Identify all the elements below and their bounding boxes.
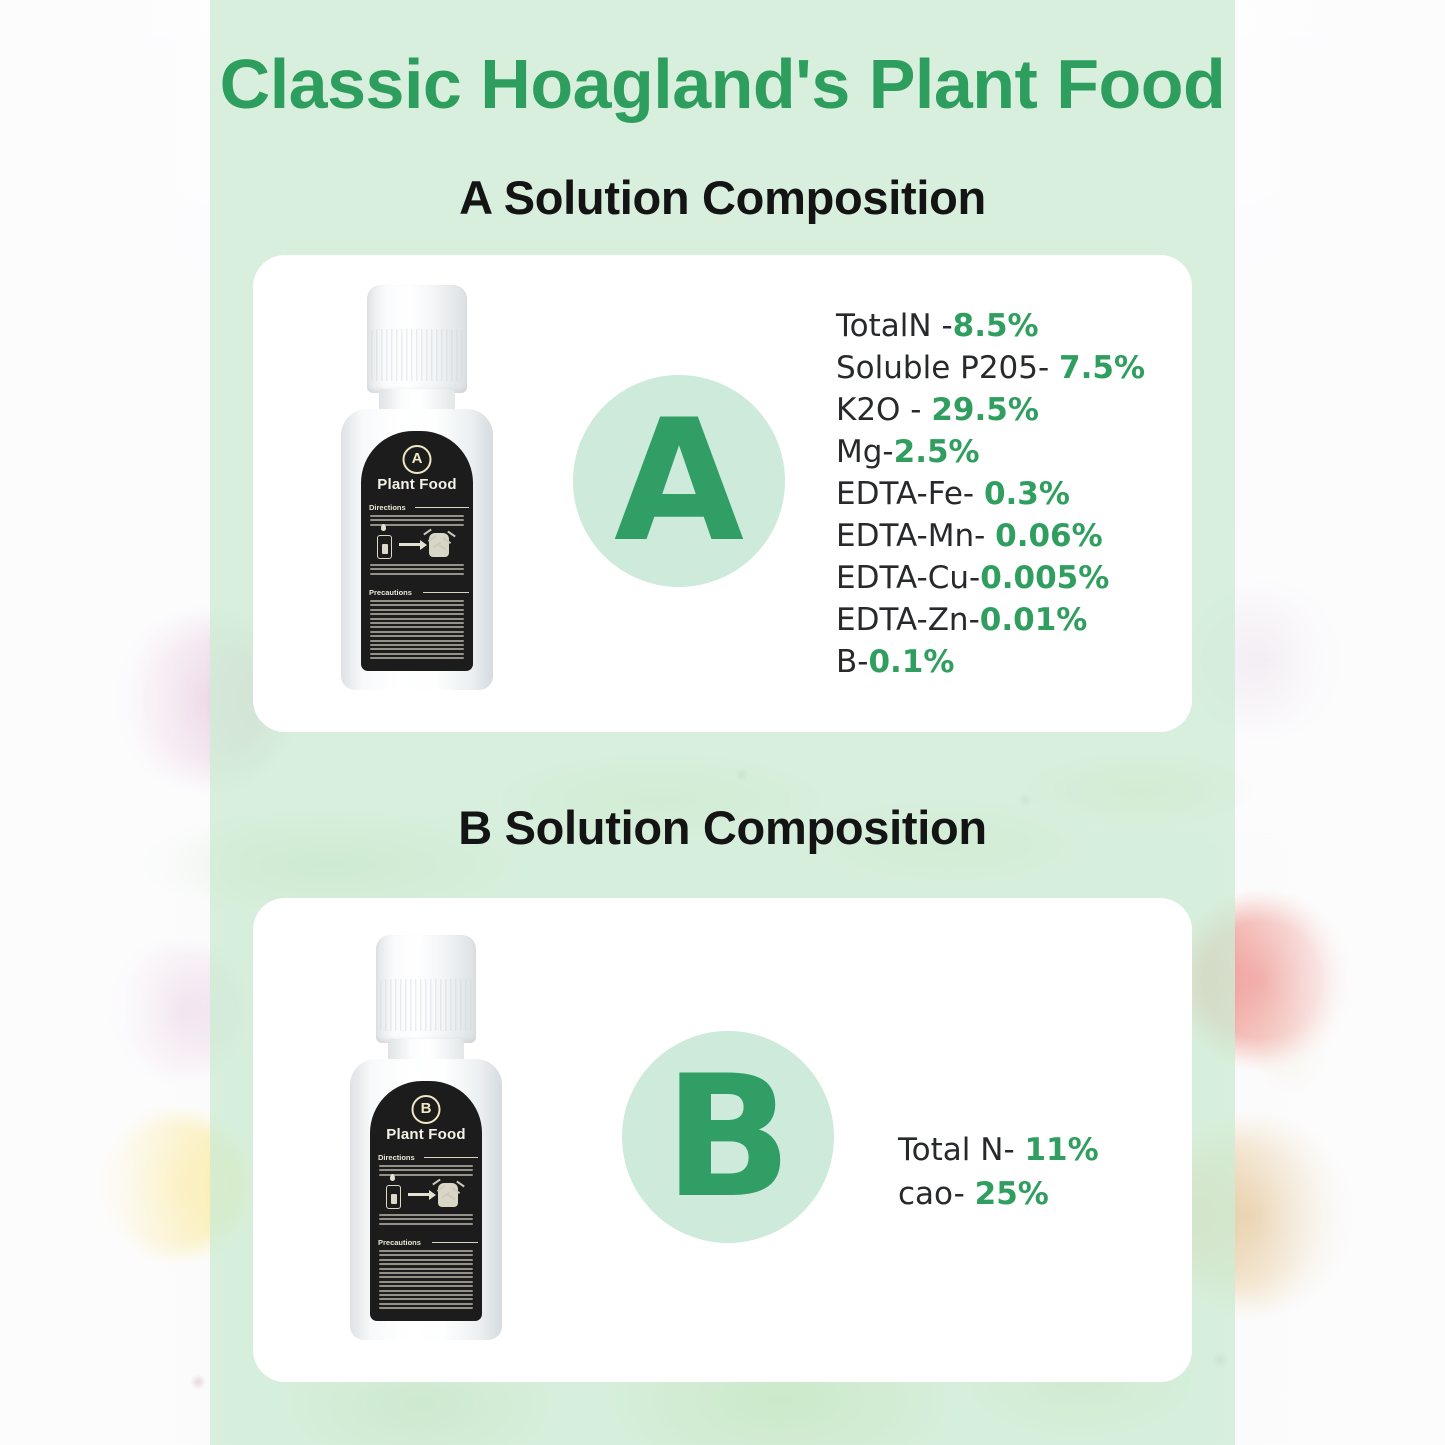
- label-rule: [424, 1157, 478, 1158]
- nutrient-name: B-: [836, 644, 868, 680]
- composition-row: cao- 25%: [898, 1172, 1148, 1216]
- nutrient-value: 0.005%: [980, 560, 1109, 596]
- nutrient-name: Total N-: [898, 1132, 1024, 1168]
- nutrient-value: 11%: [1024, 1132, 1098, 1168]
- bottle-a: A Plant Food Directions Precautions: [341, 285, 493, 690]
- label-mixing-pictogram-icon: [384, 1181, 468, 1209]
- bottle-body: B Plant Food Directions Precautions: [350, 1059, 502, 1340]
- bottle-cap-icon: [367, 285, 467, 393]
- composition-row: K2O - 29.5%: [836, 389, 1166, 431]
- bottle-body: A Plant Food Directions Precautions: [341, 409, 493, 690]
- label-rule: [415, 507, 469, 508]
- nutrient-name: K2O -: [836, 392, 931, 428]
- label-precautions-body: [370, 600, 464, 661]
- label-directions-step2: [379, 1214, 473, 1227]
- nutrient-name: EDTA-Cu-: [836, 560, 980, 596]
- nutrient-value: 8.5%: [953, 308, 1039, 344]
- label-brand-name: Plant Food: [370, 1126, 482, 1143]
- label-precautions-text: Precautions: [369, 588, 412, 597]
- nutrient-name: EDTA-Fe-: [836, 476, 984, 512]
- bottle-label-b: B Plant Food Directions Precautions: [370, 1081, 482, 1321]
- nutrient-name: EDTA-Zn-: [836, 602, 980, 638]
- composition-row: EDTA-Zn-0.01%: [836, 599, 1166, 641]
- composition-row: TotalN -8.5%: [836, 305, 1166, 347]
- composition-row: EDTA-Mn- 0.06%: [836, 515, 1166, 557]
- label-brand-name: Plant Food: [361, 476, 473, 493]
- composition-row: Soluble P205- 7.5%: [836, 347, 1166, 389]
- nutrient-value: 7.5%: [1059, 350, 1145, 386]
- nutrient-value: 0.1%: [868, 644, 954, 680]
- label-rule: [432, 1242, 478, 1243]
- label-precautions-body: [379, 1250, 473, 1311]
- solution-b-badge: B: [622, 1031, 834, 1243]
- section-b-heading: B Solution Composition: [0, 800, 1445, 855]
- composition-row: EDTA-Cu-0.005%: [836, 557, 1166, 599]
- nutrient-value: 29.5%: [931, 392, 1039, 428]
- composition-row: Total N- 11%: [898, 1128, 1148, 1172]
- label-directions-text: Directions: [369, 503, 406, 512]
- nutrient-value: 0.01%: [980, 602, 1088, 638]
- bottle-label-a: A Plant Food Directions Precautions: [361, 431, 473, 671]
- section-a-heading: A Solution Composition: [0, 170, 1445, 225]
- nutrient-name: EDTA-Mn-: [836, 518, 995, 554]
- label-mixing-pictogram-icon: [375, 531, 459, 559]
- nutrient-value: 0.06%: [995, 518, 1103, 554]
- label-directions-heading: Directions: [378, 1153, 415, 1162]
- page-title: Classic Hoagland's Plant Food: [0, 44, 1445, 124]
- label-precautions-text: Precautions: [378, 1238, 421, 1247]
- nutrient-name: Soluble P205-: [836, 350, 1059, 386]
- label-directions-step2: [370, 564, 464, 577]
- solution-a-composition-list: TotalN -8.5% Soluble P205- 7.5% K2O - 29…: [836, 305, 1166, 683]
- nutrient-name: TotalN -: [836, 308, 953, 344]
- bottle-b: B Plant Food Directions Precautions: [350, 935, 502, 1340]
- label-directions-heading: Directions: [369, 503, 406, 512]
- label-precautions-heading: Precautions: [369, 588, 412, 597]
- solution-b-composition-list: Total N- 11% cao- 25%: [898, 1128, 1148, 1216]
- composition-row: Mg-2.5%: [836, 431, 1166, 473]
- nutrient-value: 0.3%: [984, 476, 1070, 512]
- composition-row: EDTA-Fe- 0.3%: [836, 473, 1166, 515]
- label-letter-badge-icon: A: [403, 445, 432, 474]
- label-letter-badge-icon: B: [412, 1095, 441, 1124]
- label-rule: [423, 592, 469, 593]
- nutrient-value: 25%: [975, 1176, 1049, 1212]
- nutrient-value: 2.5%: [894, 434, 980, 470]
- nutrient-name: cao-: [898, 1176, 975, 1212]
- product-infographic: Classic Hoagland's Plant Food A Solution…: [0, 0, 1445, 1445]
- composition-row: B-0.1%: [836, 641, 1166, 683]
- label-precautions-heading: Precautions: [378, 1238, 421, 1247]
- nutrient-name: Mg-: [836, 434, 894, 470]
- label-directions-text: Directions: [378, 1153, 415, 1162]
- solution-a-badge: A: [573, 375, 785, 587]
- bottle-cap-icon: [376, 935, 476, 1043]
